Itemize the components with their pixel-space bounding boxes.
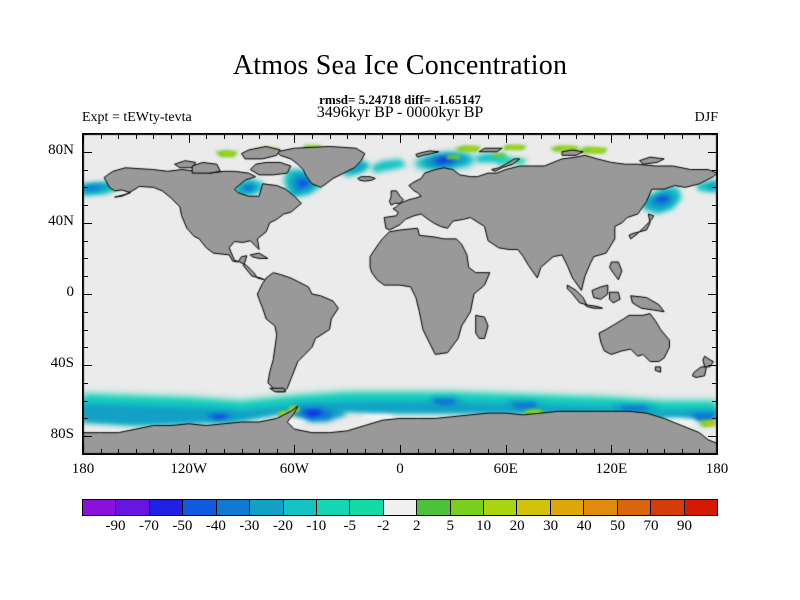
axis-tick bbox=[365, 449, 366, 454]
axis-tick bbox=[153, 449, 154, 454]
colorbar-tick-label: 70 bbox=[644, 518, 659, 535]
axis-tick bbox=[136, 134, 137, 139]
axis-tick bbox=[712, 258, 717, 259]
axis-tick bbox=[470, 134, 471, 139]
colorbar-cell bbox=[384, 500, 417, 515]
sea-ice-anomaly-map bbox=[83, 134, 717, 454]
axis-tick bbox=[347, 449, 348, 454]
axis-tick bbox=[83, 436, 92, 437]
axis-tick bbox=[712, 383, 717, 384]
axis-tick bbox=[611, 445, 612, 454]
axis-tick bbox=[594, 449, 595, 454]
colorbar-cell bbox=[284, 500, 317, 515]
colorbar-tick-label: 30 bbox=[543, 518, 558, 535]
axis-tick bbox=[83, 187, 88, 188]
axis-tick bbox=[708, 365, 717, 366]
season-label: DJF bbox=[695, 110, 718, 126]
axis-tick bbox=[506, 134, 507, 143]
axis-tick bbox=[699, 134, 700, 139]
axis-tick bbox=[242, 449, 243, 454]
axis-tick bbox=[629, 134, 630, 139]
axis-tick bbox=[576, 449, 577, 454]
axis-tick bbox=[171, 134, 172, 139]
colorbar-cell bbox=[417, 500, 450, 515]
axis-tick bbox=[259, 134, 260, 139]
axis-tick bbox=[136, 449, 137, 454]
axis-tick bbox=[294, 134, 295, 143]
axis-tick bbox=[83, 205, 88, 206]
colorbar-tick-label: -70 bbox=[139, 518, 159, 535]
axis-tick bbox=[664, 134, 665, 139]
colorbar-labels: -90-70-50-40-30-20-10-5-2251020304050709… bbox=[82, 518, 718, 540]
axis-tick bbox=[365, 134, 366, 139]
axis-tick bbox=[523, 134, 524, 139]
axis-tick bbox=[153, 134, 154, 139]
axis-tick bbox=[400, 134, 401, 143]
axis-tick bbox=[400, 445, 401, 454]
axis-tick bbox=[277, 449, 278, 454]
axis-tick bbox=[435, 449, 436, 454]
axis-tick bbox=[224, 449, 225, 454]
colorbar-cell bbox=[350, 500, 383, 515]
axis-tick bbox=[712, 312, 717, 313]
x-axis-tick-label: 180 bbox=[706, 461, 729, 478]
colorbar-tick-label: -30 bbox=[239, 518, 259, 535]
x-axis-tick-label: 0 bbox=[396, 461, 404, 478]
x-axis-tick-label: 180 bbox=[72, 461, 95, 478]
axis-tick bbox=[101, 134, 102, 139]
axis-tick bbox=[83, 134, 84, 143]
axis-tick bbox=[83, 294, 92, 295]
axis-tick bbox=[83, 365, 92, 366]
axis-tick bbox=[712, 330, 717, 331]
colorbar bbox=[82, 499, 718, 516]
axis-tick bbox=[717, 445, 718, 454]
colorbar-tick-label: 50 bbox=[610, 518, 625, 535]
axis-tick bbox=[559, 449, 560, 454]
axis-tick bbox=[712, 401, 717, 402]
axis-tick bbox=[312, 134, 313, 139]
axis-tick bbox=[418, 134, 419, 139]
axis-tick bbox=[259, 449, 260, 454]
colorbar-cell bbox=[618, 500, 651, 515]
y-axis-tick-label: 0 bbox=[20, 284, 74, 301]
axis-tick bbox=[629, 449, 630, 454]
axis-tick bbox=[712, 276, 717, 277]
axis-tick bbox=[699, 449, 700, 454]
axis-tick bbox=[206, 449, 207, 454]
y-axis-tick-label: 40N bbox=[20, 213, 74, 230]
colorbar-tick-label: -20 bbox=[273, 518, 293, 535]
colorbar-cell bbox=[584, 500, 617, 515]
axis-tick bbox=[712, 418, 717, 419]
axis-tick bbox=[330, 449, 331, 454]
axis-tick bbox=[647, 134, 648, 139]
colorbar-cell bbox=[651, 500, 684, 515]
axis-tick bbox=[312, 449, 313, 454]
colorbar-cell bbox=[217, 500, 250, 515]
colorbar-tick-label: -2 bbox=[377, 518, 390, 535]
axis-tick bbox=[712, 187, 717, 188]
axis-tick bbox=[118, 449, 119, 454]
axis-tick bbox=[435, 134, 436, 139]
axis-tick bbox=[294, 445, 295, 454]
x-axis-tick-label: 120E bbox=[595, 461, 627, 478]
axis-tick bbox=[171, 449, 172, 454]
axis-tick bbox=[83, 445, 84, 454]
axis-tick bbox=[488, 449, 489, 454]
axis-tick bbox=[83, 347, 88, 348]
axis-tick bbox=[330, 134, 331, 139]
colorbar-tick-label: 10 bbox=[476, 518, 491, 535]
colorbar-cell bbox=[451, 500, 484, 515]
colorbar-tick-label: 20 bbox=[510, 518, 525, 535]
colorbar-tick-label: 40 bbox=[577, 518, 592, 535]
axis-tick bbox=[382, 134, 383, 139]
axis-tick bbox=[189, 445, 190, 454]
map-plot-area bbox=[82, 133, 718, 455]
axis-tick bbox=[224, 134, 225, 139]
colorbar-tick-label: -10 bbox=[306, 518, 326, 535]
axis-tick bbox=[708, 294, 717, 295]
axis-tick bbox=[83, 418, 88, 419]
axis-tick bbox=[83, 241, 88, 242]
colorbar-tick-label: 2 bbox=[413, 518, 421, 535]
colorbar-tick-label: -5 bbox=[344, 518, 357, 535]
axis-tick bbox=[708, 436, 717, 437]
axis-tick bbox=[83, 276, 88, 277]
colorbar-tick-label: -50 bbox=[172, 518, 192, 535]
colorbar-cell bbox=[83, 500, 116, 515]
colorbar-cell bbox=[685, 500, 717, 515]
colorbar-cell bbox=[183, 500, 216, 515]
axis-tick bbox=[83, 312, 88, 313]
axis-tick bbox=[382, 449, 383, 454]
colorbar-cell bbox=[116, 500, 149, 515]
colorbar-cell bbox=[150, 500, 183, 515]
axis-tick bbox=[83, 223, 92, 224]
axis-tick bbox=[189, 134, 190, 143]
colorbar-cell bbox=[317, 500, 350, 515]
axis-tick bbox=[83, 454, 88, 455]
axis-tick bbox=[206, 134, 207, 139]
axis-tick bbox=[712, 347, 717, 348]
axis-tick bbox=[523, 449, 524, 454]
y-axis-tick-label: 80N bbox=[20, 142, 74, 159]
axis-tick bbox=[712, 241, 717, 242]
axis-tick bbox=[594, 134, 595, 139]
axis-tick bbox=[453, 134, 454, 139]
axis-tick bbox=[647, 449, 648, 454]
axis-tick bbox=[453, 449, 454, 454]
axis-tick bbox=[83, 170, 88, 171]
axis-tick bbox=[708, 223, 717, 224]
axis-tick bbox=[83, 401, 88, 402]
axis-tick bbox=[717, 134, 718, 143]
axis-tick bbox=[83, 330, 88, 331]
axis-tick bbox=[242, 134, 243, 139]
axis-tick bbox=[418, 449, 419, 454]
y-axis-tick-label: 80S bbox=[20, 426, 74, 443]
axis-tick bbox=[682, 449, 683, 454]
axis-tick bbox=[611, 134, 612, 143]
axis-tick bbox=[83, 383, 88, 384]
colorbar-cell bbox=[484, 500, 517, 515]
axis-tick bbox=[83, 152, 92, 153]
colorbar-tick-label: -40 bbox=[206, 518, 226, 535]
axis-tick bbox=[83, 258, 88, 259]
axis-tick bbox=[541, 449, 542, 454]
axis-tick bbox=[506, 445, 507, 454]
axis-tick bbox=[470, 449, 471, 454]
colorbar-cell bbox=[250, 500, 283, 515]
axis-tick bbox=[664, 449, 665, 454]
colorbar-cell bbox=[517, 500, 550, 515]
axis-tick bbox=[576, 134, 577, 139]
experiment-label: Expt = tEWty-tevta bbox=[82, 110, 192, 126]
axis-tick bbox=[712, 454, 717, 455]
colorbar-tick-label: -90 bbox=[105, 518, 125, 535]
axis-tick bbox=[712, 134, 717, 135]
page-title: Atmos Sea Ice Concentration bbox=[0, 50, 800, 82]
axis-tick bbox=[712, 205, 717, 206]
x-axis-tick-label: 120W bbox=[170, 461, 207, 478]
y-axis-tick-label: 40S bbox=[20, 355, 74, 372]
colorbar-cell bbox=[551, 500, 584, 515]
axis-tick bbox=[101, 449, 102, 454]
axis-tick bbox=[559, 134, 560, 139]
colorbar-tick-label: 90 bbox=[677, 518, 692, 535]
axis-tick bbox=[347, 134, 348, 139]
axis-tick bbox=[541, 134, 542, 139]
axis-tick bbox=[682, 134, 683, 139]
axis-tick bbox=[712, 170, 717, 171]
x-axis-tick-label: 60E bbox=[494, 461, 518, 478]
axis-tick bbox=[277, 134, 278, 139]
axis-tick bbox=[118, 134, 119, 139]
axis-tick bbox=[488, 134, 489, 139]
axis-tick bbox=[83, 134, 88, 135]
colorbar-tick-label: 5 bbox=[446, 518, 454, 535]
x-axis-tick-label: 60W bbox=[280, 461, 309, 478]
axis-tick bbox=[708, 152, 717, 153]
